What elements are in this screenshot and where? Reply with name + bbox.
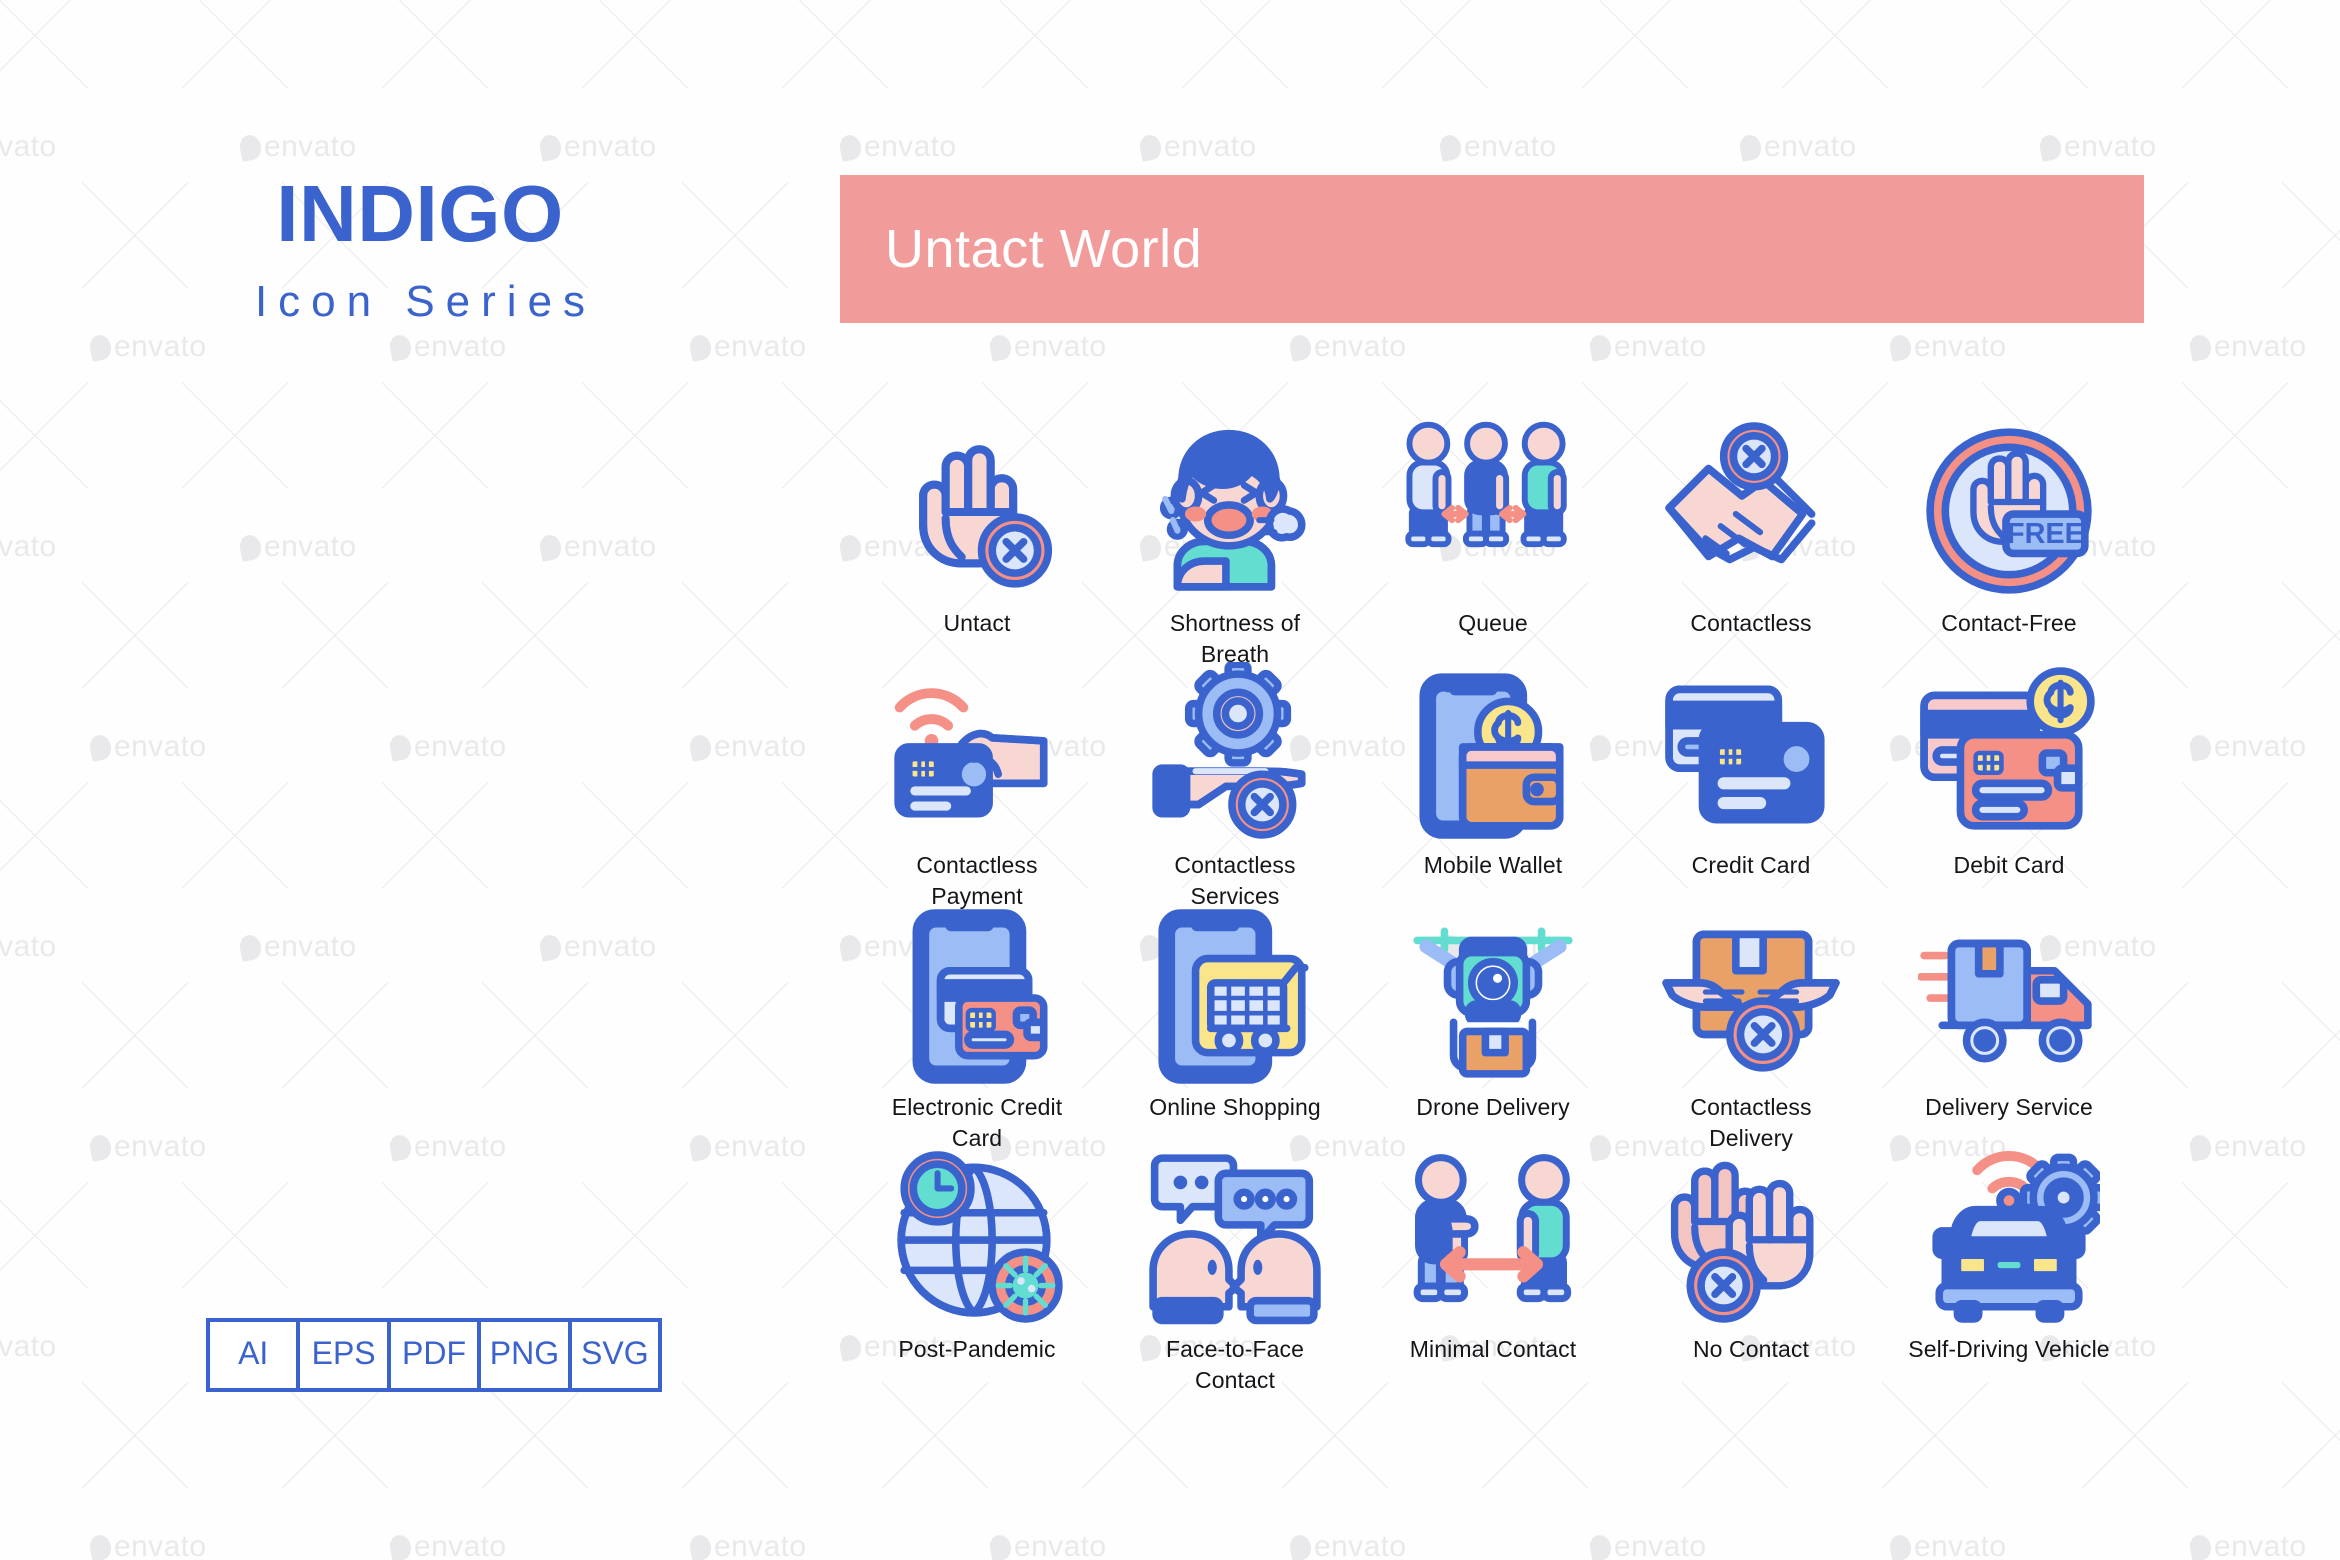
icon-label-minimal-contact: Minimal Contact — [1410, 1334, 1576, 1365]
delivery-truck-icon — [1909, 904, 2109, 1086]
drone-package-icon — [1393, 904, 1593, 1086]
icon-label-mobile-wallet: Mobile Wallet — [1424, 850, 1563, 881]
icon-label-contactless-services: Contactless Services — [1133, 850, 1338, 911]
category-title: Untact World — [885, 218, 1202, 280]
icon-cell-contactless-payment[interactable]: Contactless Payment — [848, 662, 1106, 904]
coughing-person-icon — [1135, 420, 1335, 602]
icon-cell-online-shopping[interactable]: Online Shopping — [1106, 904, 1364, 1146]
icon-cell-mobile-wallet[interactable]: Mobile Wallet — [1364, 662, 1622, 904]
hands-box-x-icon — [1651, 904, 1851, 1086]
phone-wallet-coin-icon — [1393, 662, 1593, 844]
icon-label-self-driving-vehicle: Self-Driving Vehicle — [1908, 1334, 2109, 1365]
two-hands-x-icon — [1651, 1146, 1851, 1328]
icon-cell-no-contact[interactable]: No Contact — [1622, 1146, 1880, 1388]
icon-cell-electronic-credit-card[interactable]: Electronic Credit Card — [848, 904, 1106, 1146]
credit-cards-icon — [1651, 662, 1851, 844]
icon-cell-debit-card[interactable]: Debit Card — [1880, 662, 2138, 904]
icon-label-no-contact: No Contact — [1693, 1334, 1809, 1365]
icon-label-contactless-delivery: Contactless Delivery — [1649, 1092, 1854, 1153]
brand-panel: INDIGO Icon Series AI EPS PDF PNG SVG — [0, 0, 840, 1560]
debit-cards-coin-icon — [1909, 662, 2109, 844]
car-wifi-gear-icon — [1909, 1146, 2109, 1328]
icon-label-contactless-payment: Contactless Payment — [875, 850, 1080, 911]
icon-label-shortness-of-breath: Shortness of Breath — [1133, 608, 1338, 669]
format-badge-svg[interactable]: SVG — [572, 1322, 658, 1388]
icon-grid: UntactShortness of BreathQueueContactles… — [848, 420, 2138, 1388]
format-badge-eps[interactable]: EPS — [300, 1322, 390, 1388]
icon-label-delivery-service: Delivery Service — [1925, 1092, 2093, 1123]
file-format-badges: AI EPS PDF PNG SVG — [206, 1318, 662, 1392]
icon-cell-drone-delivery[interactable]: Drone Delivery — [1364, 904, 1622, 1146]
hand-stop-x-icon — [877, 420, 1077, 602]
two-people-arrow-icon — [1393, 1146, 1593, 1328]
icon-cell-face-to-face-contact[interactable]: Face-to-Face Contact — [1106, 1146, 1364, 1388]
icon-cell-post-pandemic[interactable]: Post-Pandemic — [848, 1146, 1106, 1388]
brand-title: INDIGO — [200, 176, 640, 253]
format-badge-pdf[interactable]: PDF — [391, 1322, 481, 1388]
phone-cart-icon — [1135, 904, 1335, 1086]
icon-cell-delivery-service[interactable]: Delivery Service — [1880, 904, 2138, 1146]
icon-label-credit-card: Credit Card — [1692, 850, 1811, 881]
icon-cell-minimal-contact[interactable]: Minimal Contact — [1364, 1146, 1622, 1388]
hand-free-badge-icon: FREE — [1909, 420, 2109, 602]
icon-cell-contactless-services[interactable]: Contactless Services — [1106, 662, 1364, 904]
svg-text:FREE: FREE — [2007, 518, 2084, 550]
icon-label-untact: Untact — [943, 608, 1010, 639]
icon-label-contactless: Contactless — [1690, 608, 1811, 639]
icon-label-electronic-credit-card: Electronic Credit Card — [875, 1092, 1080, 1153]
icon-cell-shortness-of-breath[interactable]: Shortness of Breath — [1106, 420, 1364, 662]
icon-cell-contact-free[interactable]: FREEContact-Free — [1880, 420, 2138, 662]
format-badge-png[interactable]: PNG — [481, 1322, 571, 1388]
icon-label-face-to-face-contact: Face-to-Face Contact — [1133, 1334, 1338, 1395]
icon-cell-contactless-delivery[interactable]: Contactless Delivery — [1622, 904, 1880, 1146]
gear-hand-x-icon — [1135, 662, 1335, 844]
format-badge-ai[interactable]: AI — [210, 1322, 300, 1388]
card-tap-wifi-icon — [877, 662, 1077, 844]
icon-cell-contactless[interactable]: Contactless — [1622, 420, 1880, 662]
icon-cell-untact[interactable]: Untact — [848, 420, 1106, 662]
icon-label-contact-free: Contact-Free — [1941, 608, 2076, 639]
icon-label-debit-card: Debit Card — [1954, 850, 2065, 881]
icon-cell-queue[interactable]: Queue — [1364, 420, 1622, 662]
icon-label-drone-delivery: Drone Delivery — [1416, 1092, 1570, 1123]
brand-block: INDIGO Icon Series — [200, 176, 640, 327]
content-panel: Untact World UntactShortness of BreathQu… — [840, 0, 2340, 1560]
icon-label-post-pandemic: Post-Pandemic — [898, 1334, 1055, 1365]
category-banner: Untact World — [840, 175, 2144, 323]
handshake-x-icon — [1651, 420, 1851, 602]
brand-subtitle: Icon Series — [200, 277, 640, 327]
icon-cell-credit-card[interactable]: Credit Card — [1622, 662, 1880, 904]
globe-clock-virus-icon — [877, 1146, 1077, 1328]
icon-label-online-shopping: Online Shopping — [1149, 1092, 1321, 1123]
two-heads-speech-icon — [1135, 1146, 1335, 1328]
icon-label-queue: Queue — [1458, 608, 1528, 639]
poster-canvas: envatoenvatoenvatoenvatoenvatoenvatoenva… — [0, 0, 2340, 1560]
phone-cards-icon — [877, 904, 1077, 1086]
people-queue-distance-icon — [1393, 420, 1593, 602]
icon-cell-self-driving-vehicle[interactable]: Self-Driving Vehicle — [1880, 1146, 2138, 1388]
